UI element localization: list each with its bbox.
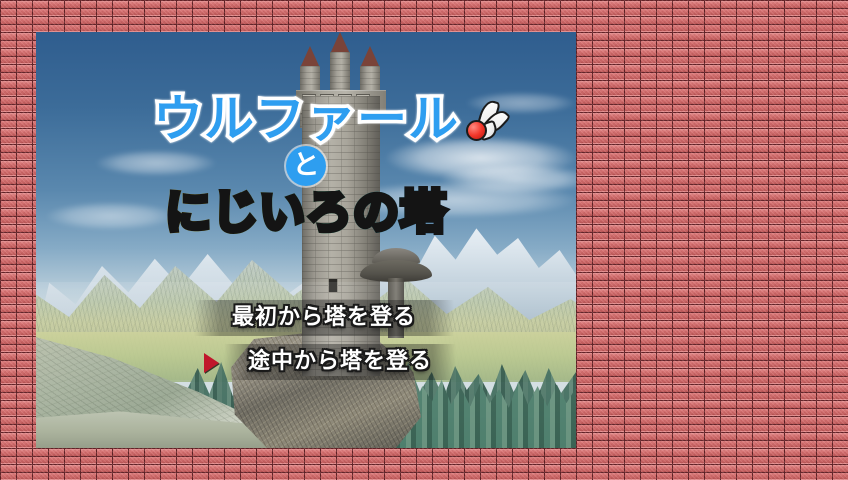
menu-item-label: 最初から塔を登る (194, 300, 454, 336)
fairy-body-icon (466, 120, 487, 141)
turret-roof-center (330, 32, 350, 54)
turret-roof-right (360, 46, 380, 68)
tower-window (328, 278, 338, 293)
game-canvas[interactable]: ウルファール と にじいろの塔 最初から塔を登る 途中から塔を登る (36, 32, 576, 448)
fairy-sprite (464, 98, 510, 144)
menu-item-continue[interactable]: 途中から塔を登る (36, 344, 576, 380)
turret-roof-left (300, 46, 320, 68)
tower-window (328, 192, 338, 207)
game-window: ウルファール と にじいろの塔 最初から塔を登る 途中から塔を登る (0, 0, 848, 480)
menu-cursor-icon (204, 353, 219, 373)
menu-item-new-game[interactable]: 最初から塔を登る (36, 300, 576, 336)
menu-item-label: 途中から塔を登る (224, 344, 456, 380)
cloud-icon (46, 202, 176, 230)
cloud-icon (96, 150, 216, 176)
main-menu: 最初から塔を登る 途中から塔を登る (36, 300, 576, 388)
